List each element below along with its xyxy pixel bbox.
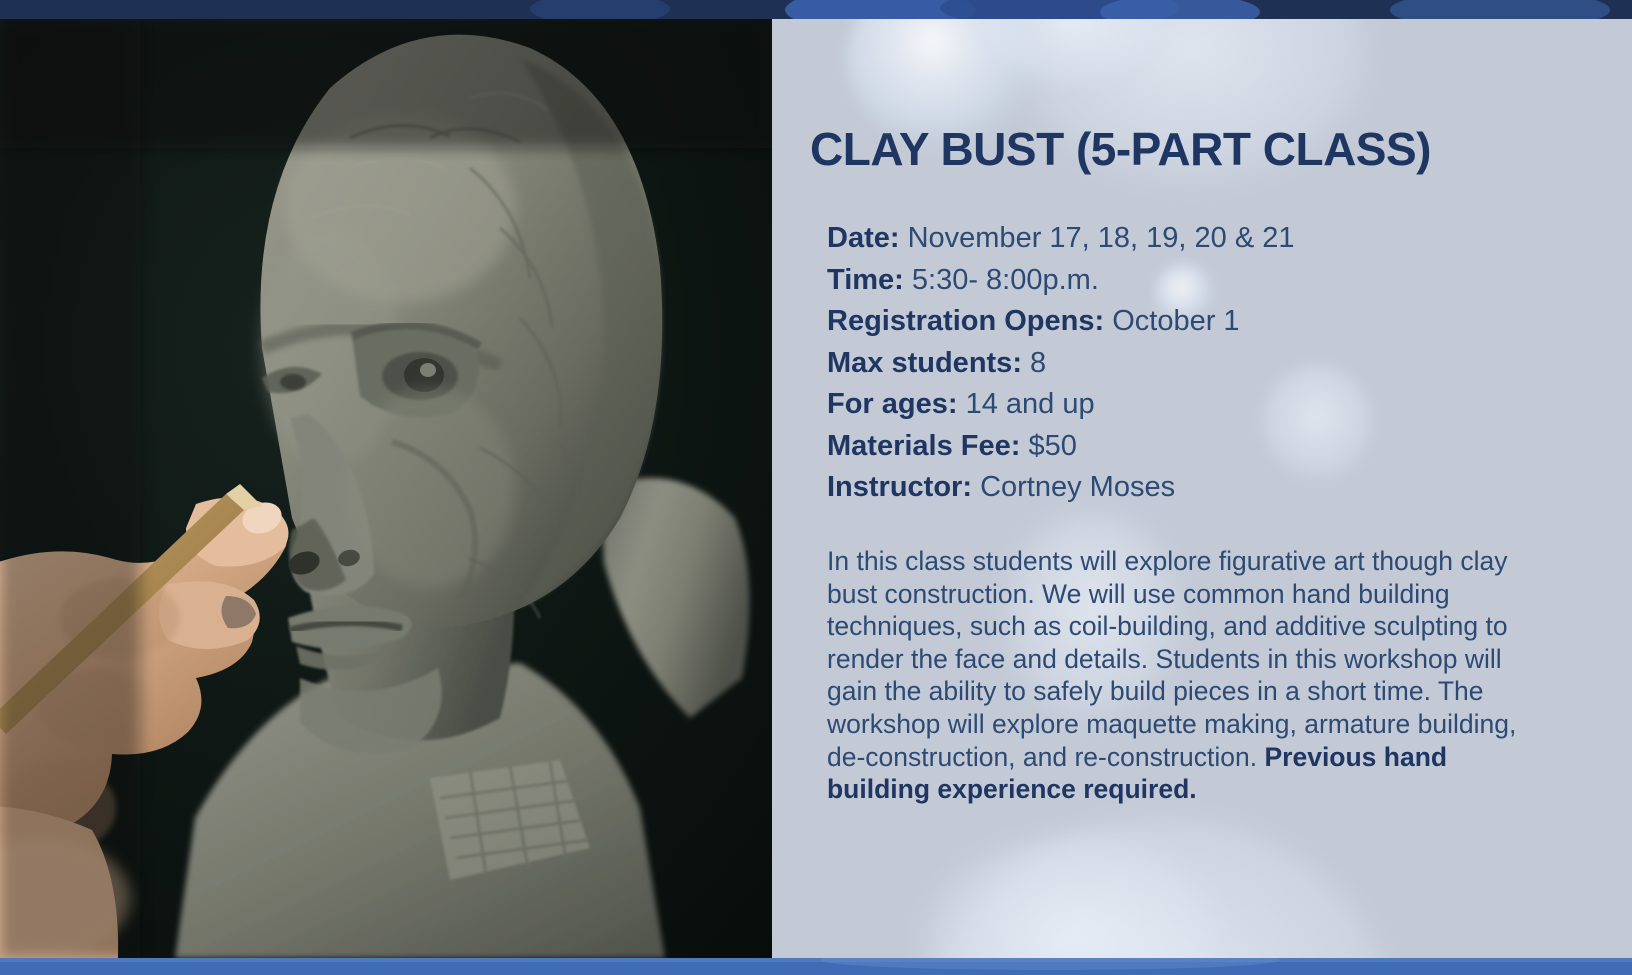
detail-label-instructor: Instructor:: [827, 471, 972, 503]
detail-value-time: 5:30- 8:00p.m.: [912, 264, 1099, 296]
description-text: In this class students will explore figu…: [827, 546, 1516, 772]
detail-label-registration-opens: Registration Opens:: [827, 305, 1104, 337]
detail-value-max-students: 8: [1030, 347, 1046, 379]
detail-row-for-ages: For ages: 14 and up: [827, 384, 1607, 426]
detail-value-materials-fee: $50: [1028, 430, 1076, 462]
detail-label-date: Date:: [827, 222, 900, 254]
top-accent-band: [0, 0, 1632, 19]
detail-row-materials-fee: Materials Fee: $50: [827, 426, 1607, 468]
detail-row-max-students: Max students: 8: [827, 343, 1607, 385]
detail-value-registration-opens: October 1: [1112, 305, 1239, 337]
info-panel: CLAY BUST (5-PART CLASS) Date: November …: [772, 18, 1632, 958]
class-details-list: Date: November 17, 18, 19, 20 & 21 Time:…: [827, 218, 1607, 509]
detail-value-for-ages: 14 and up: [966, 388, 1095, 420]
clay-bust-sculpture-photo: [0, 18, 772, 958]
detail-row-time: Time: 5:30- 8:00p.m.: [827, 260, 1607, 302]
detail-label-for-ages: For ages:: [827, 388, 958, 420]
class-description: In this class students will explore figu…: [827, 545, 1527, 806]
detail-row-instructor: Instructor: Cortney Moses: [827, 467, 1607, 509]
detail-label-materials-fee: Materials Fee:: [827, 430, 1020, 462]
detail-value-instructor: Cortney Moses: [980, 471, 1175, 503]
detail-label-max-students: Max students:: [827, 347, 1022, 379]
detail-value-date: November 17, 18, 19, 20 & 21: [908, 222, 1295, 254]
detail-row-date: Date: November 17, 18, 19, 20 & 21: [827, 218, 1607, 260]
detail-label-time: Time:: [827, 264, 904, 296]
page-title: CLAY BUST (5-PART CLASS): [810, 122, 1600, 176]
detail-row-registration-opens: Registration Opens: October 1: [827, 301, 1607, 343]
bottom-accent-band: [0, 958, 1632, 975]
slide: CLAY BUST (5-PART CLASS) Date: November …: [0, 0, 1632, 975]
